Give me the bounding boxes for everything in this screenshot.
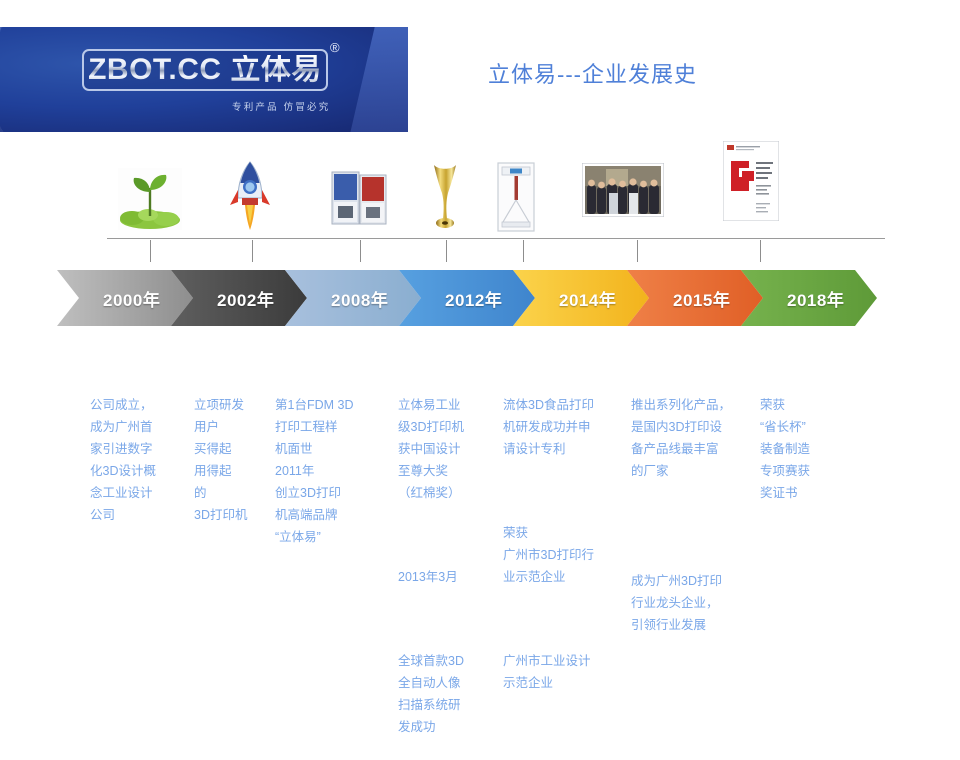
seedling-photo xyxy=(118,168,182,230)
axis-tick xyxy=(252,240,253,262)
description-block: 流体3D食品打印 机研发成功并申 请设计专利 xyxy=(503,394,625,460)
description-block: 广州市工业设计 示范企业 xyxy=(503,650,625,694)
spacer xyxy=(503,482,625,500)
axis-tick xyxy=(360,240,361,262)
description-block: 立体易工业 级3D打印机 获中国设计 至尊大奖 （红棉奖） xyxy=(398,394,496,504)
description-block: 立项研发 用户 买得起 用得起 的 3D打印机 xyxy=(194,394,274,526)
timeline-year-label: 2008年 xyxy=(331,286,388,311)
certificate-photo xyxy=(723,141,779,221)
timeline-chevron-2000[interactable]: 2000年 xyxy=(57,270,193,326)
timeline-chevrons: 2000年 2002年 2008年 2012年 2014年 2015年 2018… xyxy=(57,270,862,326)
logo-tagline: 专利产品 仿冒必究 xyxy=(232,99,372,113)
description-column-2008: 第1台FDM 3D 打印工程样 机面世 2011年 创立3D打印 机高端品牌 “… xyxy=(275,372,385,570)
description-column-2014: 流体3D食品打印 机研发成功并申 请设计专利 荣获 广州市3D打印行 业示范企业… xyxy=(503,372,625,716)
description-column-2002: 立项研发 用户 买得起 用得起 的 3D打印机 xyxy=(194,372,274,548)
description-column-2015: 推出系列化产品， 是国内3D打印设 备产品线最丰富 的厂家 成为广州3D打印 行… xyxy=(631,372,755,658)
description-block: 荣获 “省长杯” 装备制造 专项赛获 奖证书 xyxy=(760,394,852,504)
spacer xyxy=(398,526,496,544)
spacer xyxy=(503,610,625,628)
page-title: 立体易---企业发展史 xyxy=(488,57,697,89)
timeline-axis xyxy=(107,238,885,239)
description-block: 成为广州3D打印 行业龙头企业， 引领行业发展 xyxy=(631,570,755,636)
timeline-year-label: 2002年 xyxy=(217,286,274,311)
timeline-year-label: 2000年 xyxy=(103,286,160,311)
logo-banner: ZBOT.CC 立体易 ® 专利产品 仿冒必究 xyxy=(0,27,408,132)
timeline-year-label: 2015年 xyxy=(673,286,730,311)
registered-trademark-icon: ® xyxy=(330,41,340,54)
trophy-photo xyxy=(428,163,462,231)
timeline-year-label: 2014年 xyxy=(559,286,616,311)
delta-printer-photo xyxy=(497,162,535,232)
logo-plate: ZBOT.CC 立体易 xyxy=(82,49,328,91)
axis-tick xyxy=(523,240,524,262)
spacer xyxy=(631,504,755,548)
axis-tick xyxy=(150,240,151,262)
spacer xyxy=(398,610,496,628)
description-column-2018: 荣获 “省长杯” 装备制造 专项赛获 奖证书 xyxy=(760,372,852,526)
axis-tick xyxy=(446,240,447,262)
description-column-2012: 立体易工业 级3D打印机 获中国设计 至尊大奖 （红棉奖） 2013年3月 全球… xyxy=(398,372,496,760)
description-block: 荣获 广州市3D打印行 业示范企业 xyxy=(503,522,625,588)
description-column-2000: 公司成立， 成为广州首 家引进数字 化3D设计概 念工业设计 公司 xyxy=(90,372,190,548)
axis-tick xyxy=(637,240,638,262)
description-block: 公司成立， 成为广州首 家引进数字 化3D设计概 念工业设计 公司 xyxy=(90,394,190,526)
description-block: 2013年3月 xyxy=(398,566,496,588)
axis-tick xyxy=(760,240,761,262)
description-block: 全球首款3D 全自动人像 扫描系统研 发成功 xyxy=(398,650,496,738)
group-photo xyxy=(582,163,664,217)
logo-wordmark: ZBOT.CC 立体易 xyxy=(88,55,322,85)
description-block: 推出系列化产品， 是国内3D打印设 备产品线最丰富 的厂家 xyxy=(631,394,755,482)
timeline-year-label: 2018年 xyxy=(787,286,844,311)
rocket-photo xyxy=(228,160,272,232)
description-block: 第1台FDM 3D 打印工程样 机面世 2011年 创立3D打印 机高端品牌 “… xyxy=(275,394,385,548)
timeline-year-label: 2012年 xyxy=(445,286,502,311)
fdm-printer-photo xyxy=(330,168,390,230)
